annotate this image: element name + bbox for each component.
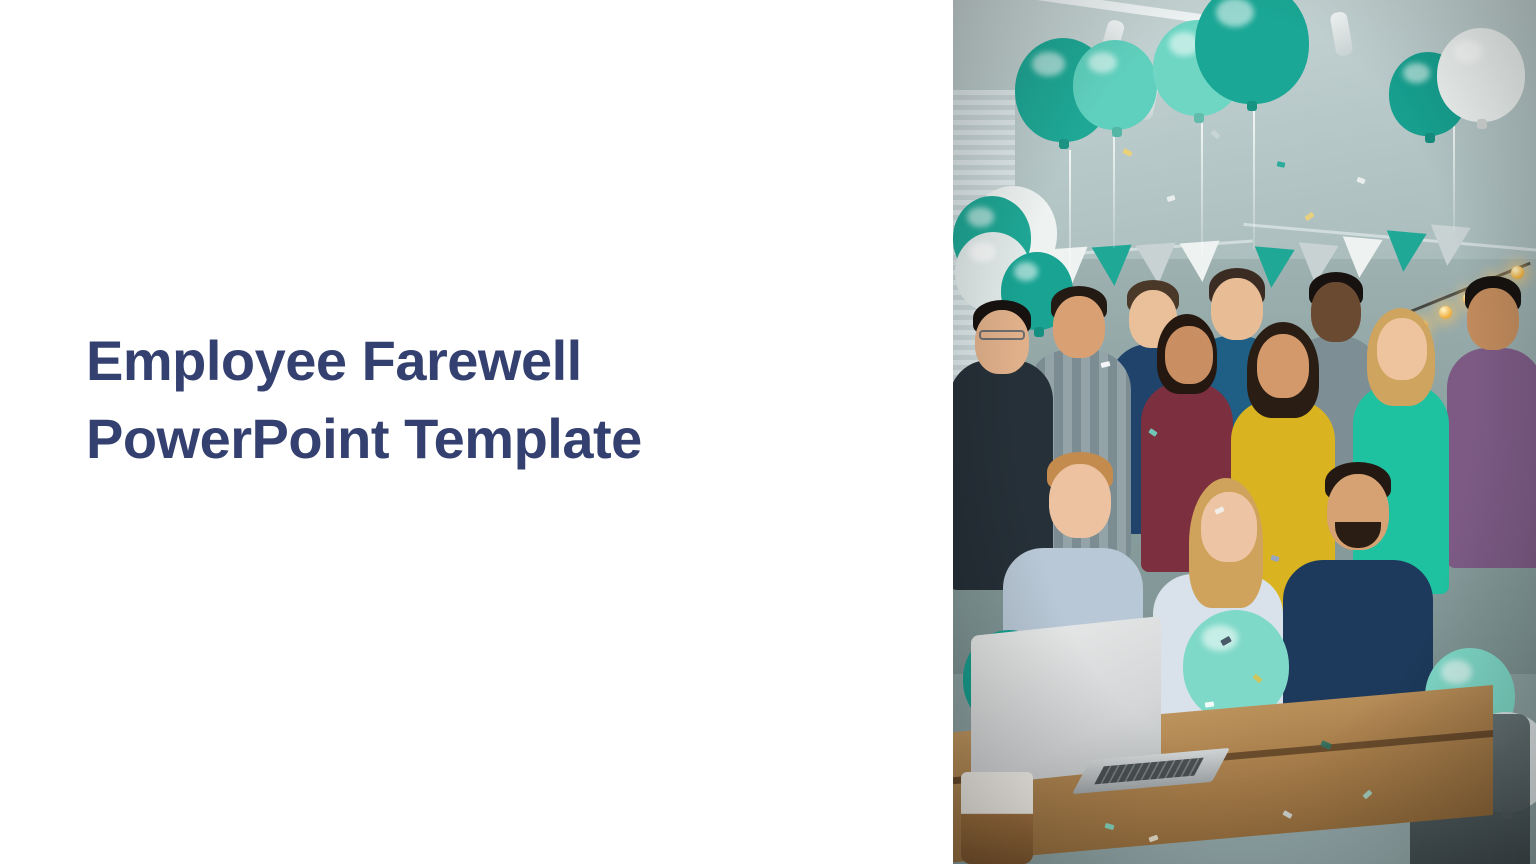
glasses-icon xyxy=(979,330,1025,340)
pennant-icon xyxy=(1136,243,1179,286)
balloon-string xyxy=(1201,108,1203,258)
hero-photo xyxy=(953,0,1536,864)
presentation-slide: Employee Farewell PowerPoint Template xyxy=(0,0,1536,864)
pennant-icon xyxy=(1427,224,1470,267)
balloon-mint-top-center xyxy=(1073,40,1157,130)
balloon-string xyxy=(1113,118,1115,248)
pennant-icon xyxy=(1092,245,1135,288)
light-bulb-icon xyxy=(1439,306,1452,319)
balloon-white-far-right xyxy=(1437,28,1525,122)
page-title: Employee Farewell PowerPoint Template xyxy=(86,322,846,478)
pennant-icon xyxy=(1383,230,1426,273)
light-bulb-icon xyxy=(1511,266,1524,279)
balloon-string xyxy=(1453,120,1455,230)
title-block: Employee Farewell PowerPoint Template xyxy=(86,322,846,478)
balloon-string xyxy=(1069,150,1071,290)
coffee-cup xyxy=(961,772,1033,864)
balloon-string xyxy=(1253,100,1255,250)
